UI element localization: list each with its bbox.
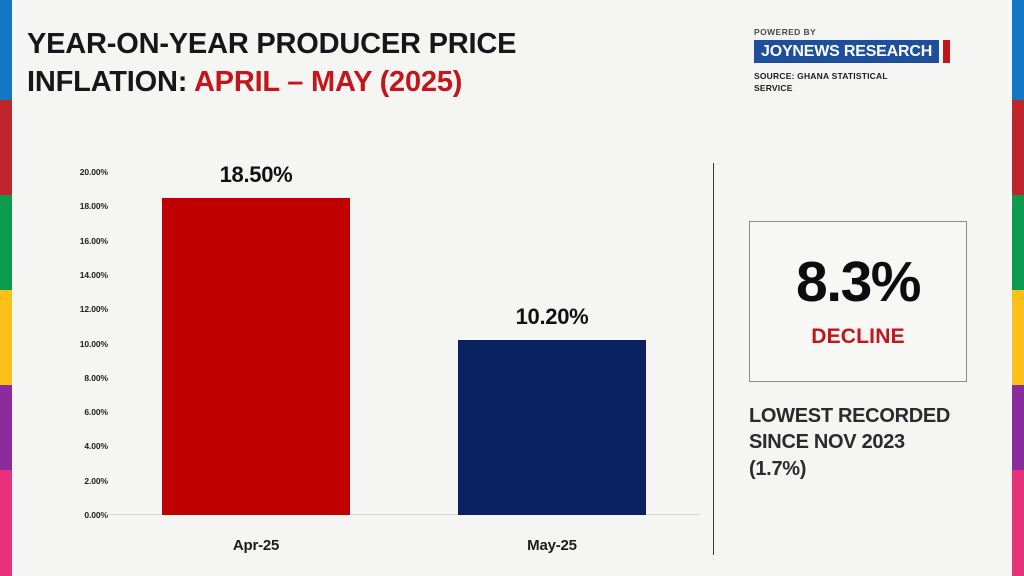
decline-label: DECLINE xyxy=(811,325,905,349)
y-axis-tick-label: 4.00% xyxy=(84,441,108,451)
edge-segment-blue xyxy=(1012,0,1024,100)
y-axis-tick-label: 0.00% xyxy=(84,510,108,520)
note-line-1: LOWEST RECORDED xyxy=(749,403,1007,429)
y-axis-tick-label: 10.00% xyxy=(80,339,108,349)
edge-segment-pink xyxy=(1012,470,1024,576)
y-axis-tick-label: 14.00% xyxy=(80,270,108,280)
edge-segment-purple xyxy=(1012,385,1024,470)
note-line-2: SINCE NOV 2023 xyxy=(749,429,1007,455)
brand-name-banner: JOYNEWS RESEARCH xyxy=(754,40,939,63)
source-line-1: SOURCE: GHANA STATISTICAL xyxy=(754,70,964,82)
edge-segment-red xyxy=(1012,100,1024,195)
bar-group: 18.50%Apr-25 xyxy=(162,172,350,515)
y-axis-tick-label: 6.00% xyxy=(84,407,108,417)
edge-segment-yellow xyxy=(1012,290,1024,385)
source-line-2: SERVICE xyxy=(754,82,964,94)
logo-block: POWERED BY JOYNEWS RESEARCH SOURCE: GHAN… xyxy=(754,27,964,95)
edge-segment-blue xyxy=(0,0,12,100)
edge-color-strip-right xyxy=(1012,0,1024,576)
bar-value-label: 18.50% xyxy=(220,162,293,188)
edge-segment-green xyxy=(1012,195,1024,290)
y-axis-tick-label: 16.00% xyxy=(80,236,108,246)
title-line-2-plain: INFLATION: xyxy=(27,66,194,98)
bar-may-25[interactable] xyxy=(458,340,646,515)
y-axis-tick-label: 12.00% xyxy=(80,304,108,314)
bar-value-label: 10.20% xyxy=(516,304,589,330)
x-axis-category-label: May-25 xyxy=(527,537,577,554)
brand-logo-row: JOYNEWS RESEARCH xyxy=(754,40,964,63)
bar-group: 10.20%May-25 xyxy=(458,172,646,515)
title-line-2: INFLATION: APRIL – MAY (2025) xyxy=(27,64,647,102)
y-axis-tick-label: 8.00% xyxy=(84,373,108,383)
plot-area: 18.50%Apr-2510.20%May-25 xyxy=(108,172,700,515)
title-line-2-accent: APRIL – MAY (2025) xyxy=(194,66,462,98)
decline-callout-box: 8.3% DECLINE xyxy=(749,221,967,382)
y-axis-tick-label: 2.00% xyxy=(84,476,108,486)
decline-value: 8.3% xyxy=(796,254,920,311)
brand-accent-bar xyxy=(943,40,950,63)
lowest-recorded-note: LOWEST RECORDED SINCE NOV 2023 (1.7%) xyxy=(749,403,1007,482)
bar-chart: 20.00%18.00%16.00%14.00%12.00%10.00%8.00… xyxy=(0,150,713,570)
powered-by-label: POWERED BY xyxy=(754,27,964,37)
title-line-1: YEAR-ON-YEAR PRODUCER PRICE xyxy=(27,26,647,64)
y-axis-tick-label: 20.00% xyxy=(80,167,108,177)
y-axis: 20.00%18.00%16.00%14.00%12.00%10.00%8.00… xyxy=(60,172,108,515)
bar-apr-25[interactable] xyxy=(162,198,350,515)
source-attribution: SOURCE: GHANA STATISTICAL SERVICE xyxy=(754,70,964,95)
x-axis-category-label: Apr-25 xyxy=(233,537,279,554)
page-title: YEAR-ON-YEAR PRODUCER PRICE INFLATION: A… xyxy=(27,26,647,101)
y-axis-tick-label: 18.00% xyxy=(80,201,108,211)
note-line-3: (1.7%) xyxy=(749,456,1007,482)
panel-divider xyxy=(713,163,714,555)
